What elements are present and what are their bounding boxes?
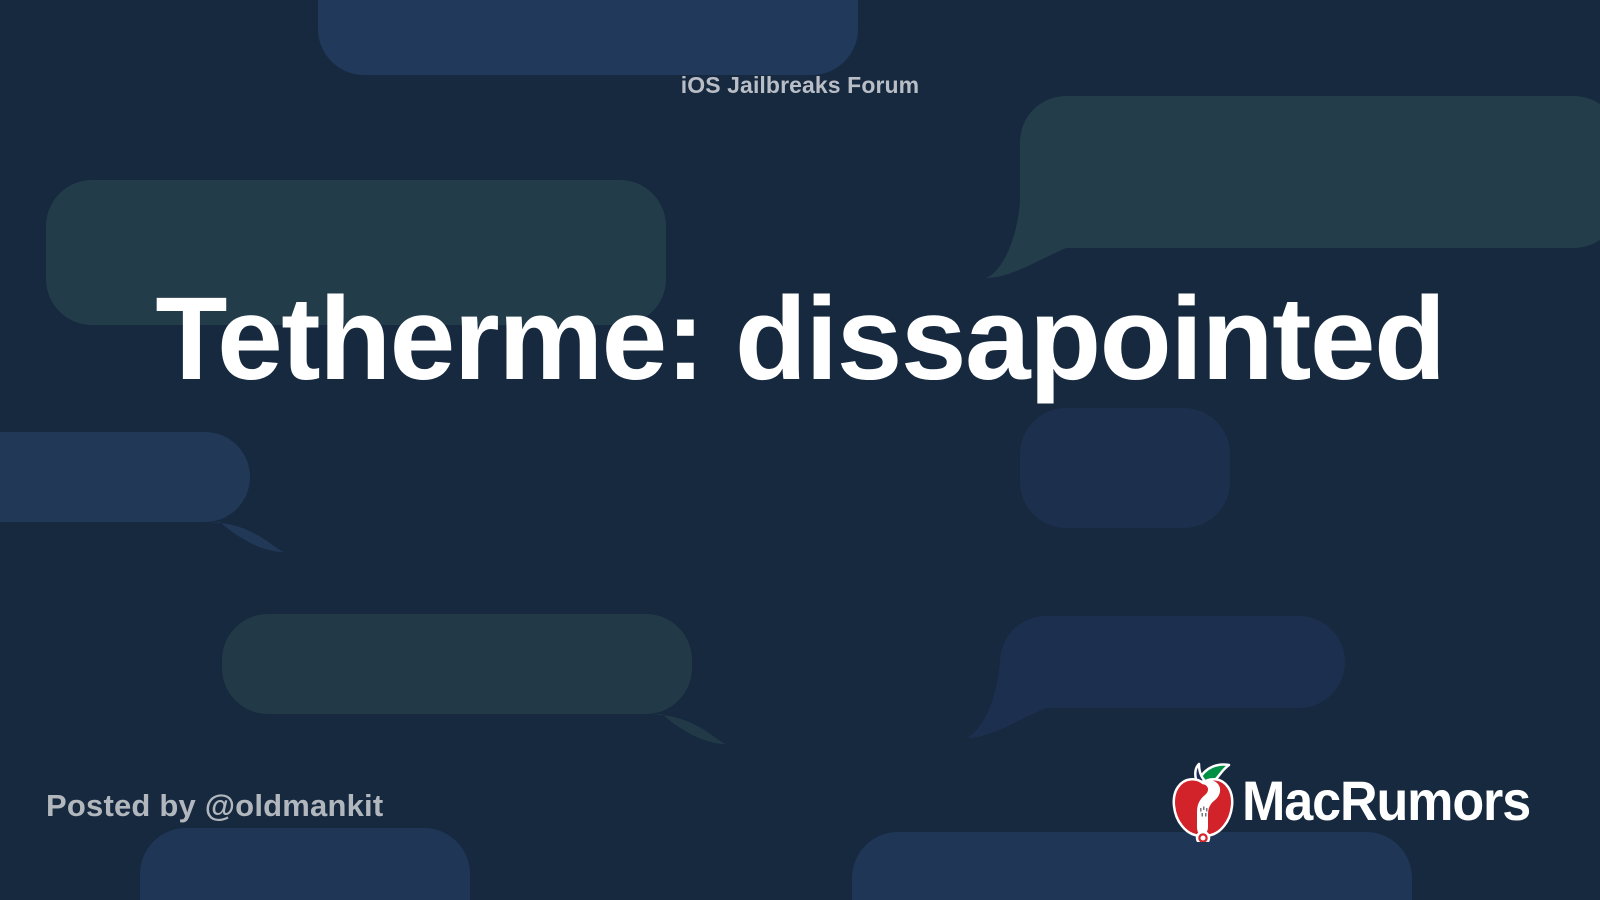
macrumors-wordmark: MacRumors: [1242, 773, 1530, 829]
posted-by-label: Posted by @oldmankit: [46, 788, 383, 824]
title-container: Tetherme: dissapointed: [120, 268, 1480, 412]
card-content: iOS Jailbreaks Forum Tetherme: dissapoin…: [0, 0, 1600, 900]
macrumors-apple-question-mark-logo: [1170, 760, 1236, 842]
forum-name: iOS Jailbreaks Forum: [0, 72, 1600, 99]
macrumors-logo[interactable]: MacRumors: [1170, 760, 1552, 842]
page-title: Tetherme: dissapointed: [120, 268, 1480, 412]
social-share-card: iOS Jailbreaks Forum Tetherme: dissapoin…: [0, 0, 1600, 900]
